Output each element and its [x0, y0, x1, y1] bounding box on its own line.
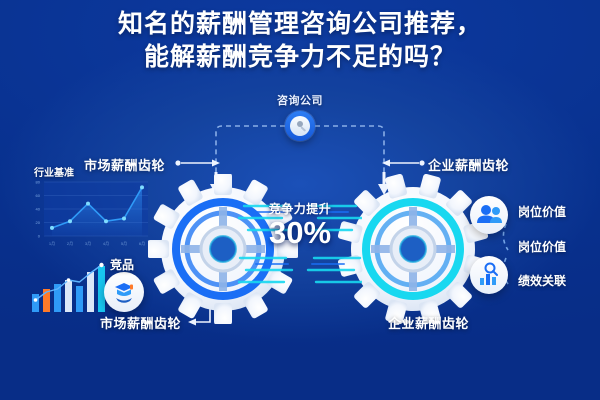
right-item-label-3: 绩效关联: [518, 272, 566, 289]
label-enterprise-gear-top: 企业薪酬齿轮: [428, 155, 509, 174]
label-market-gear-bottom: 市场薪酬齿轮: [100, 313, 181, 332]
bar-chart-icon[interactable]: [470, 256, 508, 294]
people-icon[interactable]: [470, 196, 508, 234]
industry-benchmark-chart: 行业基准 0 20 40 60 80: [22, 178, 154, 252]
chart-title: 行业基准: [34, 164, 74, 179]
svg-text:4月: 4月: [103, 241, 109, 246]
label-market-gear-top: 市场薪酬齿轮: [84, 155, 165, 174]
svg-text:40: 40: [36, 207, 41, 212]
right-item-label-1: 岗位价值: [518, 203, 566, 220]
consulting-node-icon[interactable]: [285, 111, 315, 141]
competitor-label: 竞品: [110, 256, 134, 273]
bar-chart-glyph: [470, 256, 508, 294]
poster-title: 知名的薪酬管理咨询公司推荐， 能解薪酬竞争力不足的吗？: [0, 8, 600, 74]
right-item-label-2: 岗位价值: [518, 238, 566, 255]
people-glyph: [470, 196, 508, 234]
competitor-shield-icon[interactable]: [104, 272, 144, 312]
top-node-label: 咨询公司: [0, 92, 600, 108]
svg-text:60: 60: [36, 193, 41, 198]
svg-text:6月: 6月: [139, 241, 145, 246]
title-line-1: 知名的薪酬管理咨询公司推荐，: [0, 8, 600, 41]
competitiveness-callout: 竞争力提升 30%: [238, 200, 362, 250]
svg-text:1月: 1月: [49, 241, 55, 246]
svg-text:2月: 2月: [67, 241, 73, 246]
shield-glyph: [104, 272, 144, 312]
svg-text:3月: 3月: [85, 241, 91, 246]
svg-text:5月: 5月: [121, 241, 127, 246]
poster-canvas: 知名的薪酬管理咨询公司推荐， 能解薪酬竞争力不足的吗？ 咨询公司: [0, 0, 600, 400]
svg-text:80: 80: [36, 180, 41, 185]
line-chart-svg: 0 20 40 60 80 1月2月3月 4月5月6月: [22, 178, 154, 252]
title-line-2: 能解薪酬竞争力不足的吗？: [0, 41, 600, 74]
callout-value: 30%: [238, 217, 362, 250]
svg-text:0: 0: [38, 234, 41, 239]
svg-text:20: 20: [36, 220, 41, 225]
label-enterprise-gear-bottom: 企业薪酬齿轮: [388, 313, 469, 332]
